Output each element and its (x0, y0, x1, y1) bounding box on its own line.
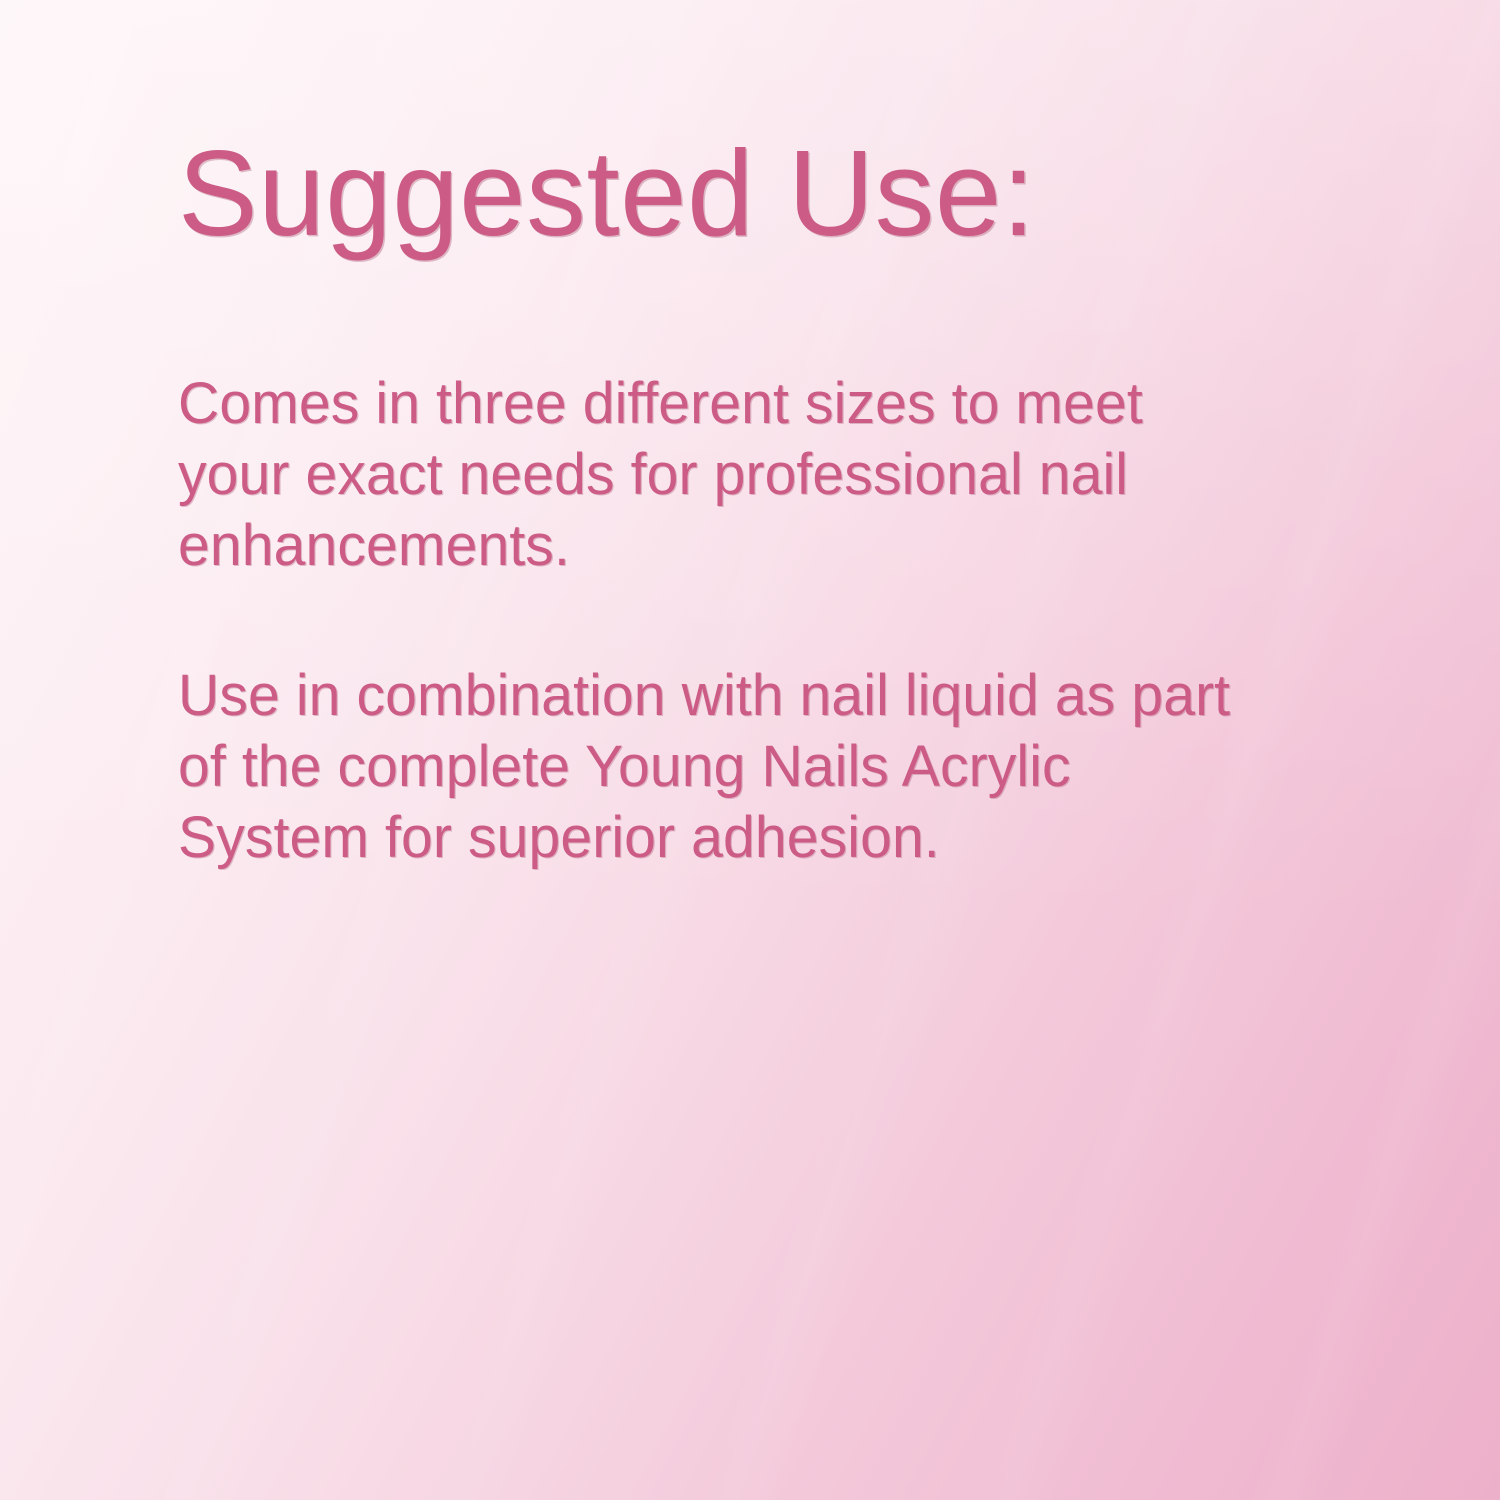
description-paragraph-sizes: Comes in three different sizes to meet y… (178, 368, 1252, 581)
description-paragraph-usage: Use in combination with nail liquid as p… (178, 660, 1252, 873)
product-info-panel: Suggested Use: Comes in three different … (0, 0, 1500, 1500)
page-title: Suggested Use: (178, 132, 1036, 254)
